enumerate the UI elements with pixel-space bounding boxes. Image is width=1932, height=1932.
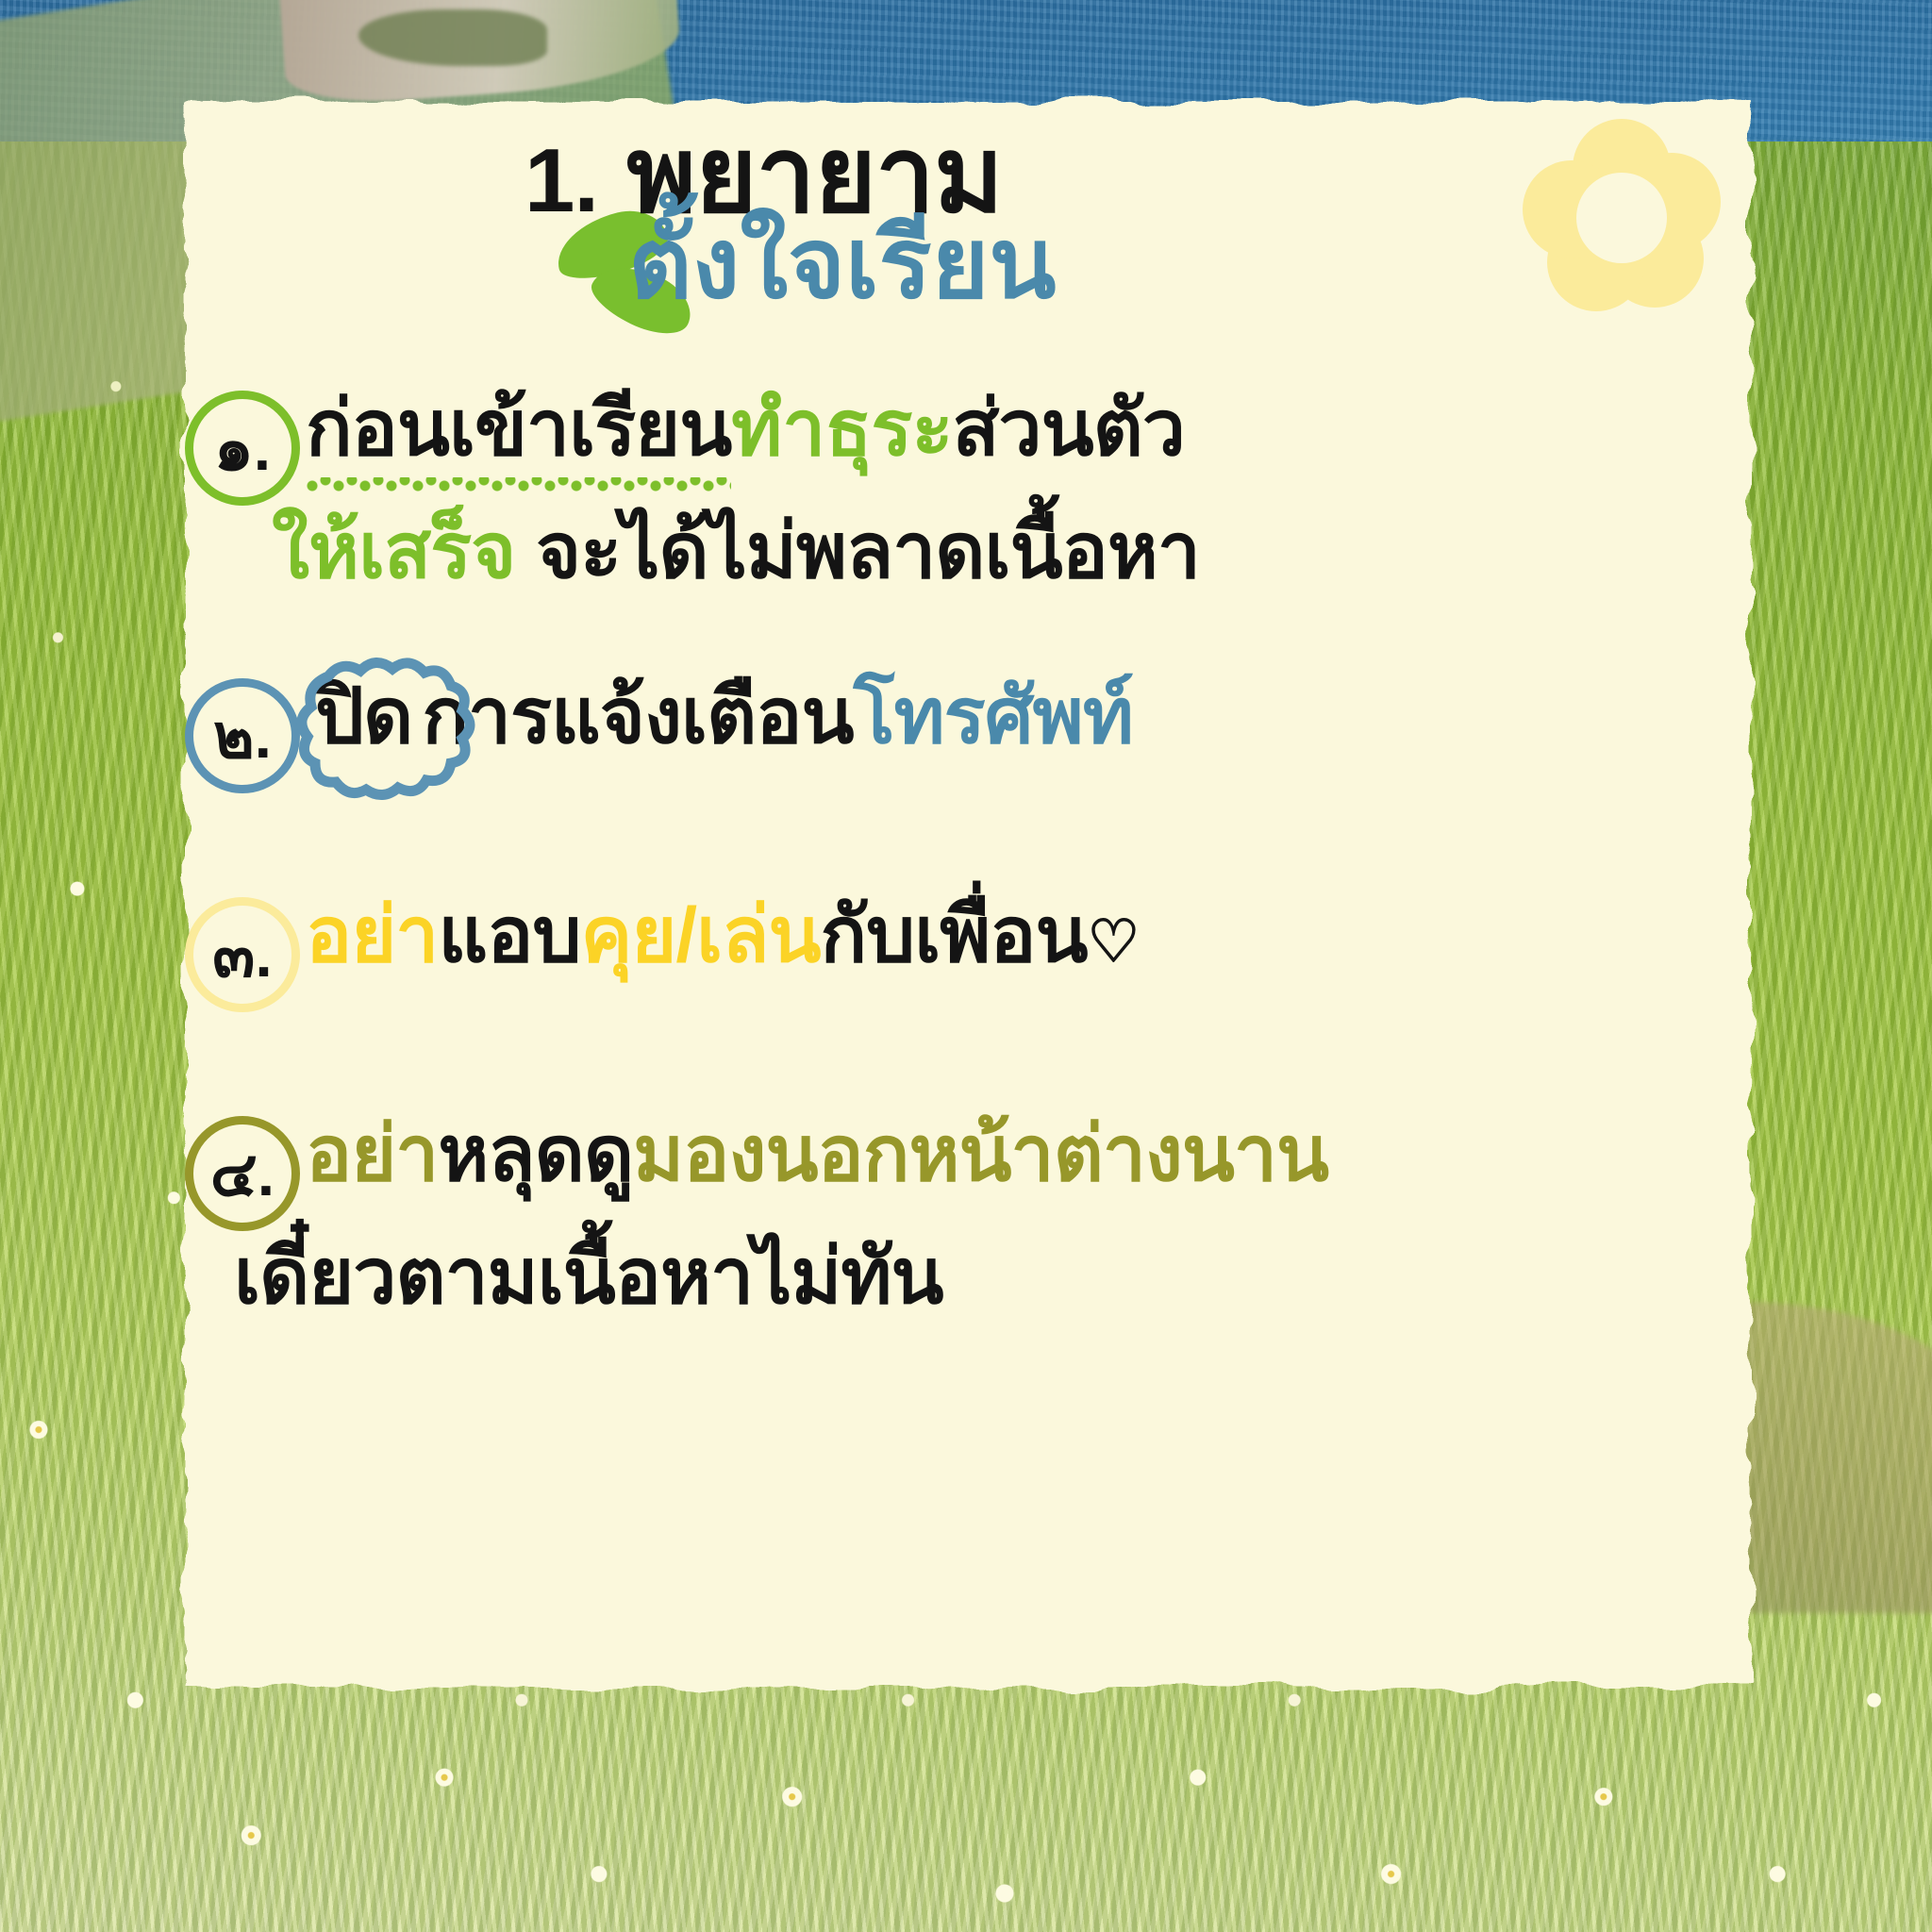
item-2-seg-2: การแจ้งเตือน xyxy=(422,674,853,759)
item-4-seg-3: มองนอกหน้าต่างนาน xyxy=(633,1111,1328,1197)
item-3-seg-1: อย่า xyxy=(306,892,438,978)
item-2-text: ปิด การแจ้งเตือนโทรศัพท์ xyxy=(306,673,1133,760)
bullet-4: ๔. xyxy=(185,1116,300,1231)
item-3-seg-4: กับเพื่อน xyxy=(821,892,1088,978)
item-4-text: อย่าหลุดดูมองนอกหน้าต่างนาน xyxy=(306,1110,1328,1198)
item-1-seg-3: ส่วนตัว xyxy=(952,386,1184,472)
bullet-3: ๓. xyxy=(185,897,300,1012)
circled-word-wrapper: ปิด xyxy=(306,673,422,760)
heart-icon: ♡ xyxy=(1088,909,1140,974)
item-1-line2: ให้เสร็จ จะได้ไม่พลาดเนื้อหา xyxy=(272,508,1751,595)
item-1-seg-5: จะได้ไม่พลาดเนื้อหา xyxy=(536,508,1200,594)
paper-content: 1. พยายาม ตั้งใจเรียน ๑. ก่อนเข้าเรียนทำ… xyxy=(185,102,1751,1687)
item-1-text: ก่อนเข้าเรียนทำธุระส่วนตัว xyxy=(306,385,1185,473)
tips-list: ๑. ก่อนเข้าเรียนทำธุระส่วนตัว ให้เสร็จ จ… xyxy=(185,385,1751,1346)
title-number: 1. xyxy=(525,130,598,231)
list-item: ๑. ก่อนเข้าเรียนทำธุระส่วนตัว ให้เสร็จ จ… xyxy=(185,385,1751,595)
header-block: 1. พยายาม ตั้งใจเรียน xyxy=(185,102,1751,357)
list-item: ๒. ปิด การแจ้งเตือนโทรศัพท์ xyxy=(185,673,1751,793)
page-subtitle: ตั้งใจเรียน xyxy=(628,215,1628,313)
item-1-seg-1: ก่อนเข้าเรียน xyxy=(306,386,731,492)
bullet-1: ๑. xyxy=(185,391,300,506)
item-4-seg-2: หลุดดู xyxy=(438,1111,633,1197)
item-3-text: อย่าแอบคุย/เล่นกับเพื่อน♡ xyxy=(306,891,1139,979)
item-3-seg-2: แอบ xyxy=(438,892,580,978)
item-1-seg-4: ให้เสร็จ xyxy=(272,508,515,594)
bullet-2: ๒. xyxy=(185,678,300,793)
item-2-seg-1: ปิด xyxy=(315,674,412,759)
list-item: ๔. อย่าหลุดดูมองนอกหน้าต่างนาน เดี๋ยวตาม… xyxy=(185,1110,1751,1321)
item-2-seg-3: โทรศัพท์ xyxy=(854,674,1133,759)
list-item: ๓. อย่าแอบคุย/เล่นกับเพื่อน♡ xyxy=(185,891,1751,1012)
item-3-seg-3: คุย/เล่น xyxy=(581,892,821,978)
item-1-seg-2: ทำธุระ xyxy=(731,386,952,472)
poster-canvas: 1. พยายาม ตั้งใจเรียน ๑. ก่อนเข้าเรียนทำ… xyxy=(0,0,1932,1932)
item-4-seg-1: อย่า xyxy=(306,1111,438,1197)
item-4-line2: เดี๋ยวตามเนื้อหาไม่ทัน xyxy=(234,1233,1751,1321)
